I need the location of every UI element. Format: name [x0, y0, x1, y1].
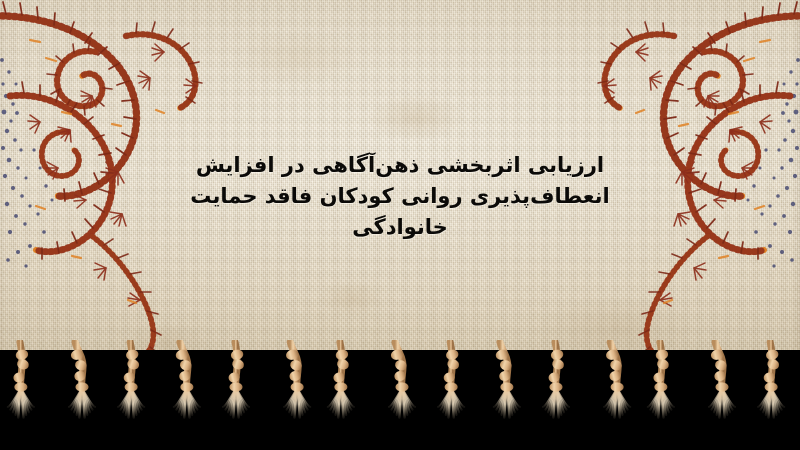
tassel-skirt	[758, 388, 784, 420]
tassel	[8, 342, 34, 420]
tassel-fringe	[0, 340, 800, 450]
tassel-skirt	[118, 388, 144, 420]
tassel-skirt	[494, 388, 520, 420]
title-line-3: خانوادگی	[0, 212, 800, 243]
title-line-2: انعطاف‌پذیری روانی کودکان فاقد حمایت	[0, 181, 800, 212]
tassel-skirt	[223, 388, 249, 420]
tassel	[648, 342, 674, 420]
tassel-skirt	[8, 388, 34, 420]
tassel	[709, 342, 735, 420]
tassel	[494, 342, 520, 420]
title-line-1: ارزیابی اثربخشی ذهن‌آگاهی در افزایش	[0, 150, 800, 181]
tassel-skirt	[328, 388, 354, 420]
slide-title: ارزیابی اثربخشی ذهن‌آگاهی در افزایش انعط…	[0, 150, 800, 243]
tassel	[174, 342, 200, 420]
tassel	[438, 342, 464, 420]
tassel-skirt	[604, 388, 630, 420]
tassel-skirt	[438, 388, 464, 420]
tassel-skirt	[709, 388, 735, 420]
tassel	[389, 342, 415, 420]
tassel	[69, 342, 95, 420]
tassel-skirt	[648, 388, 674, 420]
tassel-skirt	[284, 388, 310, 420]
tassel	[604, 342, 630, 420]
tassel	[543, 342, 569, 420]
tassel-skirt	[389, 388, 415, 420]
tassel	[118, 342, 144, 420]
slide-canvas: ارزیابی اثربخشی ذهن‌آگاهی در افزایش انعط…	[0, 0, 800, 450]
tassel	[223, 342, 249, 420]
tassel-skirt	[69, 388, 95, 420]
tassel	[758, 342, 784, 420]
tassel	[284, 342, 310, 420]
tassel-skirt	[174, 388, 200, 420]
tassel	[328, 342, 354, 420]
tassel-skirt	[543, 388, 569, 420]
